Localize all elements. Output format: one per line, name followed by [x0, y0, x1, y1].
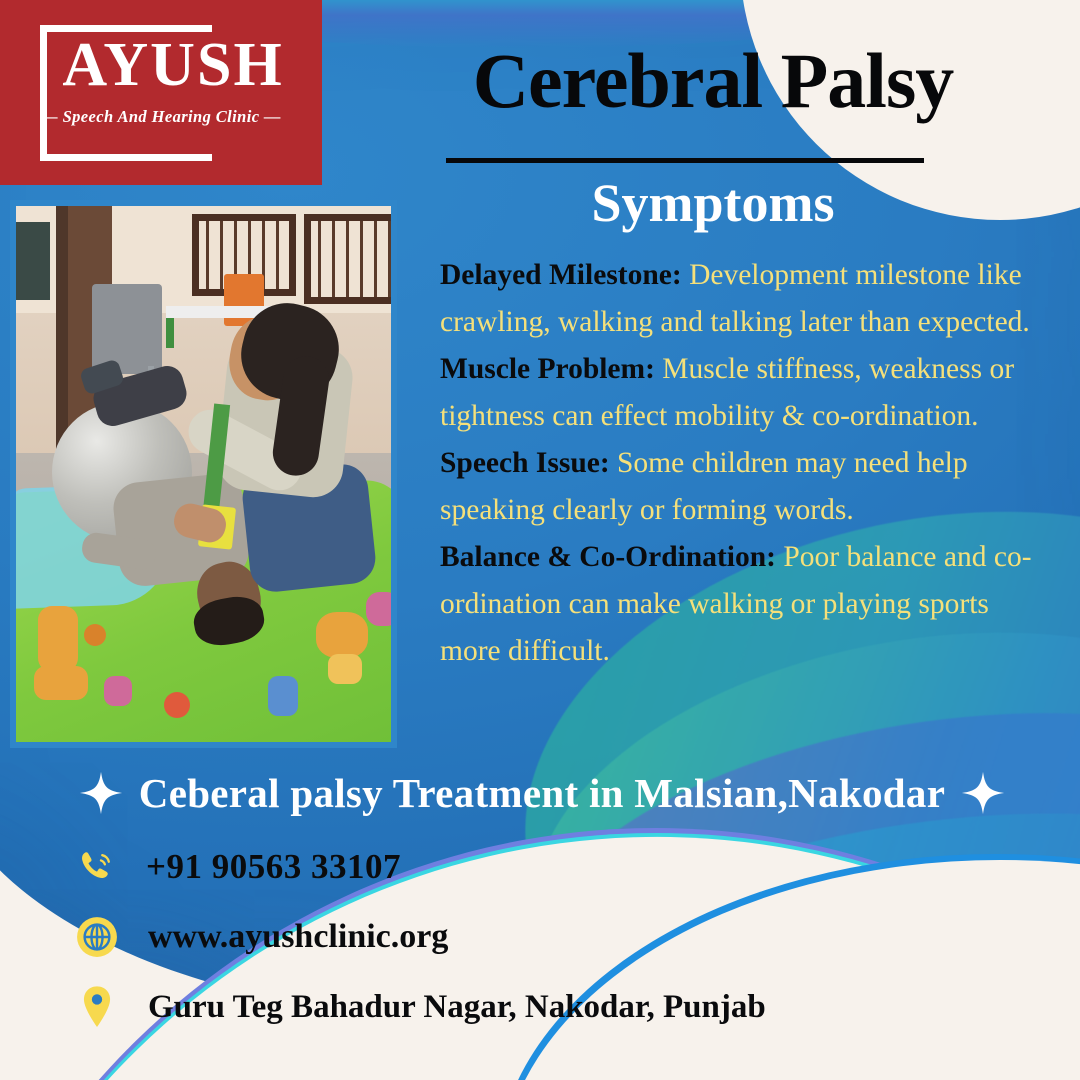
clinic-logo: AYUSH — Speech And Hearing Clinic — [0, 0, 322, 185]
poster-canvas: AYUSH — Speech And Hearing Clinic — [0, 0, 1080, 1080]
page-title: Cerebral Palsy [398, 38, 1028, 124]
title-divider [446, 158, 924, 163]
symptoms-list: Delayed Milestone: Development milestone… [440, 252, 1054, 675]
photo-mat-mushroom [164, 692, 190, 718]
symptom-item: Speech Issue: Some children may need hel… [440, 440, 1054, 534]
photo-mat-giraffe-body [34, 666, 88, 700]
phone-number: +91 90563 33107 [120, 847, 401, 887]
therapy-photo [10, 200, 397, 748]
symptom-label: Delayed Milestone: [440, 259, 682, 291]
treatment-banner: Ceberal palsy Treatment in Malsian,Nakod… [40, 762, 1044, 824]
contact-block: +91 90563 33107 www.ayushclinic.org [74, 836, 934, 1046]
photo-mat-boy [268, 676, 298, 716]
logo-inner: AYUSH — Speech And Hearing Clinic — [30, 23, 292, 163]
page-subtitle: Symptoms [398, 172, 1028, 234]
symptom-item: Muscle Problem: Muscle stiffness, weakne… [440, 346, 1054, 440]
symptom-label: Balance & Co-Ordination: [440, 541, 776, 573]
photo-mat-lion [316, 612, 368, 658]
photo-grey-chair [92, 284, 162, 374]
photo-mat-elephant [104, 676, 132, 706]
symptom-item: Balance & Co-Ordination: Poor balance an… [440, 534, 1054, 675]
photo-blackboard [16, 222, 50, 300]
contact-row-address[interactable]: Guru Teg Bahadur Nagar, Nakodar, Punjab [74, 976, 934, 1038]
symptom-label: Muscle Problem: [440, 353, 655, 385]
photo-mat-hippo [366, 592, 397, 626]
banner-text: Ceberal palsy Treatment in Malsian,Nakod… [139, 769, 945, 817]
photo-mat-lion-body [328, 654, 362, 684]
sparkle-icon [79, 771, 123, 815]
sparkle-icon [961, 771, 1005, 815]
website-url: www.ayushclinic.org [120, 918, 448, 956]
contact-row-phone[interactable]: +91 90563 33107 [74, 836, 934, 898]
contact-row-website[interactable]: www.ayushclinic.org [74, 906, 934, 968]
photo-mat-monkey [84, 624, 106, 646]
photo-mat-giraffe [38, 606, 78, 672]
logo-tagline: — Speech And Hearing Clinic — [30, 107, 292, 127]
logo-name: AYUSH [48, 29, 298, 101]
photo-window-right [304, 214, 397, 304]
address-text: Guru Teg Bahadur Nagar, Nakodar, Punjab [120, 989, 766, 1026]
phone-icon [74, 844, 120, 890]
symptom-item: Delayed Milestone: Development milestone… [440, 252, 1054, 346]
symptom-label: Speech Issue: [440, 447, 610, 479]
globe-icon [74, 914, 120, 960]
location-pin-icon [74, 984, 120, 1030]
